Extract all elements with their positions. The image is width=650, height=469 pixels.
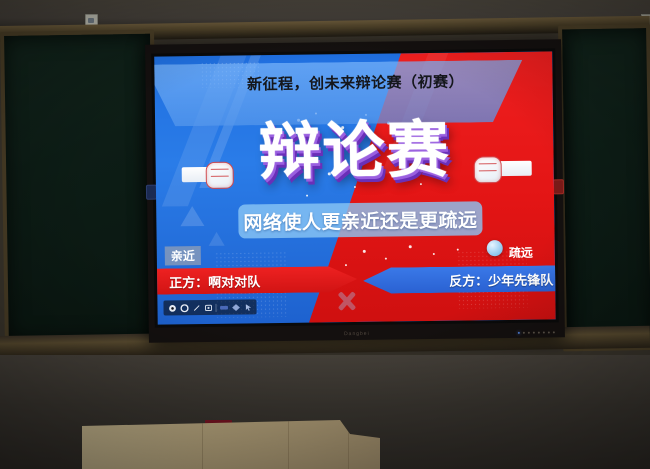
blackboard-panel-right [562,28,650,347]
affirmative-team-arrow: 正方：啊对对队 [154,266,357,295]
toolbar-divider [215,303,216,311]
shape-icon[interactable] [231,303,240,312]
negative-team-arrow: 反方：少年先锋队 [363,265,556,294]
smart-display[interactable]: 新征程，创未来辩论赛（初赛） 辩论赛 网络使人更亲近还是更疏远 亲近 疏远 [145,39,565,342]
affirmative-team-label: 正方：啊对对队 [169,271,260,291]
display-brand-label: Dangbei [344,331,370,337]
main-headline: 辩论赛 [155,113,554,190]
pointer-icon[interactable] [243,302,252,311]
event-title: 新征程，创未来辩论赛（初赛） [240,70,470,94]
pen-icon[interactable] [191,303,200,312]
lectern-seam [202,420,203,469]
note-icon[interactable] [219,303,228,312]
blackboard-panel-left [2,34,155,342]
opinion-slider-knob[interactable] [487,240,503,256]
classroom-scene: 新征程，创未来辩论赛（初赛） 辩论赛 网络使人更亲近还是更疏远 亲近 疏远 [0,0,650,469]
lectern [82,420,380,469]
presentation-slide[interactable]: 新征程，创未来辩论赛（初赛） 辩论赛 网络使人更亲近还是更疏远 亲近 疏远 [154,51,555,324]
negative-team-label: 反方：少年先锋队 [449,269,553,289]
presentation-toolbar[interactable] [163,299,256,315]
lectern-seam [288,420,289,469]
scale-label-right: 疏远 [509,244,533,261]
record-circle-icon[interactable] [179,303,188,312]
debate-motion-text: 网络使人更亲近还是更疏远 [243,205,477,235]
scale-label-left: 亲近 [165,246,201,265]
triangle-decoration [209,232,225,246]
triangle-decoration [180,206,204,226]
back-circle-icon[interactable] [167,303,176,312]
eraser-icon[interactable] [203,303,212,312]
display-power-button[interactable] [553,179,564,194]
display-indicator-leds [518,331,555,333]
debate-motion-pill: 网络使人更亲近还是更疏远 [238,201,482,238]
